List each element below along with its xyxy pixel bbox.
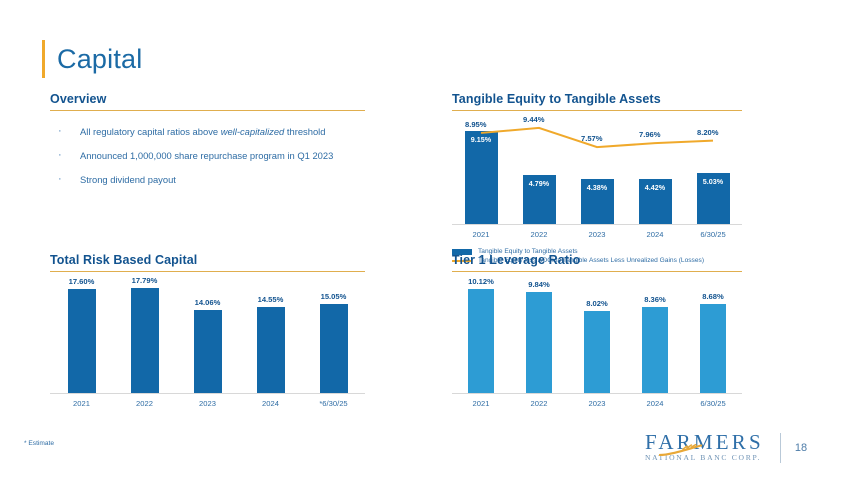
x-axis-line: [50, 393, 365, 394]
bar-value-label: 8.36%: [644, 295, 666, 304]
logo-mark: FARMERS NATIONAL BANC CORP.: [645, 432, 764, 463]
plot: 9.15%4.79%4.38%4.42%5.03% 8.95%9.44%7.57…: [452, 117, 742, 225]
bar-value-label: 10.12%: [468, 277, 494, 286]
bar-value-label: 17.79%: [132, 276, 158, 285]
bar-value-label: 9.84%: [528, 280, 550, 289]
bar-value-label: 15.05%: [321, 292, 347, 301]
line-value-label: 9.44%: [523, 115, 545, 124]
bar: [131, 288, 159, 393]
bullet-pre: All regulatory capital ratios above: [80, 126, 221, 137]
x-axis-tick: 2023: [568, 399, 626, 408]
list-item: · Announced 1,000,000 share repurchase p…: [50, 149, 365, 162]
x-axis-tick: 2021: [50, 399, 113, 408]
list-item: · All regulatory capital ratios above we…: [50, 125, 365, 138]
overview-rule: [50, 110, 365, 111]
x-axis-tick: 2021: [452, 399, 510, 408]
chart-plot-area: 17.60%17.79%14.06%14.55%15.05% 202120222…: [50, 278, 365, 408]
bar-column: 15.05%: [302, 278, 365, 393]
bar-column: 8.02%: [568, 278, 626, 393]
plot: 10.12%9.84%8.02%8.36%8.68%: [452, 278, 742, 394]
list-item: · Strong dividend payout: [50, 173, 365, 186]
bullet-post: threshold: [284, 126, 325, 137]
chart-plot-area: 9.15%4.79%4.38%4.42%5.03% 8.95%9.44%7.57…: [452, 117, 742, 239]
bullet-glyph: ·: [50, 149, 80, 162]
bar: [526, 292, 552, 393]
title-text: Capital: [57, 46, 142, 73]
bar-value-label: 17.60%: [69, 277, 95, 286]
bar-value-label: 14.55%: [258, 295, 284, 304]
bar: [584, 311, 610, 393]
footnote-estimate: * Estimate: [24, 440, 54, 447]
x-axis-tick: 2023: [176, 399, 239, 408]
overview-section: Overview · All regulatory capital ratios…: [50, 92, 365, 197]
bar-column: 9.84%: [510, 278, 568, 393]
x-axis-tick: 2022: [510, 230, 568, 239]
x-axis-labels: 2021202220232024*6/30/25: [50, 399, 365, 408]
plot: 17.60%17.79%14.06%14.55%15.05%: [50, 278, 365, 394]
bar: [257, 307, 285, 393]
bar: [642, 307, 668, 393]
bar: [194, 310, 222, 393]
bar: [320, 304, 348, 393]
bullet-text: Strong dividend payout: [80, 173, 176, 186]
bar-column: 10.12%: [452, 278, 510, 393]
bar-value-label: 8.68%: [702, 292, 724, 301]
bullet-glyph: ·: [50, 125, 80, 138]
x-axis-labels: 20212022202320246/30/25: [452, 399, 742, 408]
chart-plot-area: 10.12%9.84%8.02%8.36%8.68% 2021202220232…: [452, 278, 742, 408]
x-axis-tick: 2024: [626, 399, 684, 408]
title-accent-bar: [42, 40, 45, 78]
bullet-pre: Strong dividend payout: [80, 174, 176, 185]
chart-title: Tier 1 Leverage Ratio: [452, 253, 742, 271]
chart-tangible-equity: Tangible Equity to Tangible Assets 9.15%…: [452, 92, 742, 266]
x-axis-line: [452, 224, 742, 225]
page-number: 18: [795, 442, 807, 454]
line-value-label: 8.95%: [465, 120, 487, 129]
page-title: Capital: [42, 40, 142, 78]
chart-rule: [452, 110, 742, 111]
x-axis-tick: 6/30/25: [684, 230, 742, 239]
bar-column: 17.60%: [50, 278, 113, 393]
bar-value-label: 8.02%: [586, 299, 608, 308]
bar-group: 10.12%9.84%8.02%8.36%8.68%: [452, 278, 742, 393]
line-value-label: 7.57%: [581, 134, 603, 143]
line-value-label: 7.96%: [639, 130, 661, 139]
x-axis-tick: 2024: [626, 230, 684, 239]
chart-tier-1-leverage-ratio: Tier 1 Leverage Ratio 10.12%9.84%8.02%8.…: [452, 253, 742, 408]
chart-title: Tangible Equity to Tangible Assets: [452, 92, 742, 110]
bar: [468, 289, 494, 393]
bar-column: 17.79%: [113, 278, 176, 393]
bullet-glyph: ·: [50, 173, 80, 186]
bar-column: 14.55%: [239, 278, 302, 393]
bar-column: 8.68%: [684, 278, 742, 393]
wheat-swoosh-icon: [659, 444, 703, 456]
x-axis-tick: 2023: [568, 230, 626, 239]
x-axis-tick: 2022: [510, 399, 568, 408]
x-axis-tick: *6/30/25: [302, 399, 365, 408]
bullet-pre: Announced 1,000,000 share repurchase pro…: [80, 150, 333, 161]
chart-rule: [452, 271, 742, 272]
bar-value-label: 14.06%: [195, 298, 221, 307]
line-value-label: 8.20%: [697, 128, 719, 137]
bar-group: 17.60%17.79%14.06%14.55%15.05%: [50, 278, 365, 393]
x-axis-labels: 20212022202320246/30/25: [452, 230, 742, 239]
bar-column: 14.06%: [176, 278, 239, 393]
x-axis-line: [452, 393, 742, 394]
bullet-text: All regulatory capital ratios above well…: [80, 125, 325, 138]
overview-heading: Overview: [50, 92, 365, 110]
x-axis-tick: 2024: [239, 399, 302, 408]
logo-divider: [780, 433, 781, 463]
bar: [68, 289, 96, 393]
x-axis-tick: 2021: [452, 230, 510, 239]
overview-bullet-list: · All regulatory capital ratios above we…: [50, 125, 365, 186]
bar-column: 8.36%: [626, 278, 684, 393]
brand-logo: FARMERS NATIONAL BANC CORP. 18: [645, 432, 807, 463]
bullet-text: Announced 1,000,000 share repurchase pro…: [80, 149, 333, 162]
chart-title: Total Risk Based Capital: [50, 253, 365, 271]
x-axis-tick: 2022: [113, 399, 176, 408]
slide-capital: Capital Overview · All regulatory capita…: [0, 0, 850, 478]
bar: [700, 304, 726, 393]
bullet-emphasis: well-capitalized: [221, 126, 285, 137]
chart-rule: [50, 271, 365, 272]
x-axis-tick: 6/30/25: [684, 399, 742, 408]
chart-total-risk-based-capital: Total Risk Based Capital 17.60%17.79%14.…: [50, 253, 365, 408]
